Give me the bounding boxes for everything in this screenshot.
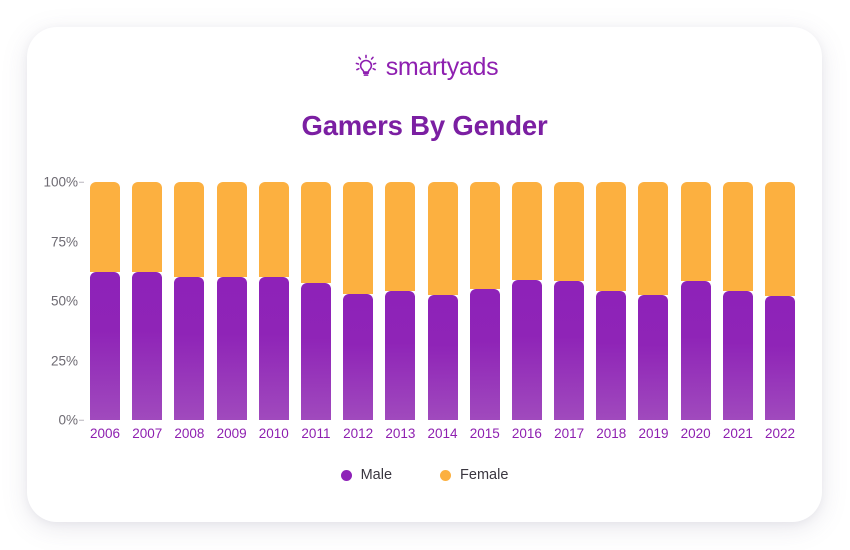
x-tick-label: 2022 [765,426,795,441]
bar-segment-male [259,277,289,420]
x-tick-label: 2008 [174,426,204,441]
bar-column[interactable] [681,182,711,420]
x-tick-label: 2019 [638,426,668,441]
x-tick-label: 2009 [217,426,247,441]
lightbulb-icon [351,52,381,82]
y-tick-50: 50% [51,294,78,309]
bar-column[interactable] [723,182,753,420]
bar-segment-female [90,182,120,272]
x-tick-label: 2017 [554,426,584,441]
bar-segment-female [512,182,542,280]
chart-legend: Male Female [27,467,822,483]
bar-segment-male [132,272,162,420]
x-tick-label: 2007 [132,426,162,441]
x-tick-label: 2015 [470,426,500,441]
bar-column[interactable] [259,182,289,420]
x-tick-label: 2010 [259,426,289,441]
bar-segment-male [90,272,120,420]
bar-segment-male [217,277,247,420]
x-tick-label: 2016 [512,426,542,441]
bar-column[interactable] [385,182,415,420]
x-tick-label: 2011 [301,426,331,441]
legend-dot-female [440,470,451,481]
bar-segment-male [174,277,204,420]
y-tick-25: 25% [51,353,78,368]
chart-title: Gamers By Gender [27,110,822,142]
bar-segment-male [343,294,373,420]
bar-column[interactable] [596,182,626,420]
bar-column[interactable] [301,182,331,420]
bar-segment-female [132,182,162,272]
bar-segment-male [512,280,542,420]
bar-segment-female [259,182,289,277]
x-tick-label: 2006 [90,426,120,441]
x-tick-label: 2018 [596,426,626,441]
bar-group [90,182,795,420]
bar-segment-male [765,296,795,420]
x-axis: 2006200720082009201020112012201320142015… [90,426,795,441]
brand-logo: smartyads [27,47,822,87]
bar-column[interactable] [512,182,542,420]
bar-column[interactable] [470,182,500,420]
bar-segment-female [723,182,753,291]
bar-segment-male [301,283,331,420]
bar-segment-male [428,295,458,420]
bar-segment-male [681,281,711,420]
bar-segment-female [301,182,331,283]
bar-segment-female [174,182,204,277]
bar-column[interactable] [765,182,795,420]
bar-segment-female [638,182,668,295]
bar-column[interactable] [90,182,120,420]
y-tick-100: 100% [43,175,78,190]
bar-column[interactable] [174,182,204,420]
y-tick-75: 75% [51,234,78,249]
x-tick-label: 2012 [343,426,373,441]
bar-segment-male [385,291,415,420]
bar-segment-male [470,289,500,420]
bar-segment-female [596,182,626,291]
bar-segment-male [638,295,668,420]
x-tick-label: 2020 [681,426,711,441]
screenshot-root: smartyads Gamers By Gender 100% 75% 50% … [0,0,850,550]
chart-card: smartyads Gamers By Gender 100% 75% 50% … [27,27,822,522]
bar-segment-female [385,182,415,291]
bar-segment-male [723,291,753,420]
plot-area: 100% 75% 50% 25% 0% [90,182,795,420]
bar-segment-female [428,182,458,295]
bar-column[interactable] [217,182,247,420]
bar-column[interactable] [132,182,162,420]
legend-label-female: Female [460,467,508,483]
bar-segment-female [554,182,584,281]
y-tick-0: 0% [58,413,78,428]
bar-segment-male [554,281,584,420]
bar-segment-male [596,291,626,420]
legend-item-female[interactable]: Female [440,467,508,483]
bar-segment-female [470,182,500,289]
brand-name: smartyads [386,53,499,82]
bar-segment-female [681,182,711,281]
bar-column[interactable] [428,182,458,420]
bar-segment-female [343,182,373,294]
bar-segment-female [765,182,795,296]
x-tick-label: 2021 [723,426,753,441]
bar-column[interactable] [554,182,584,420]
y-axis: 100% 75% 50% 25% 0% [28,182,84,420]
x-tick-label: 2014 [428,426,458,441]
bar-column[interactable] [638,182,668,420]
x-tick-label: 2013 [385,426,415,441]
legend-dot-male [341,470,352,481]
bar-column[interactable] [343,182,373,420]
bar-segment-female [217,182,247,277]
legend-item-male[interactable]: Male [341,467,392,483]
legend-label-male: Male [361,467,392,483]
